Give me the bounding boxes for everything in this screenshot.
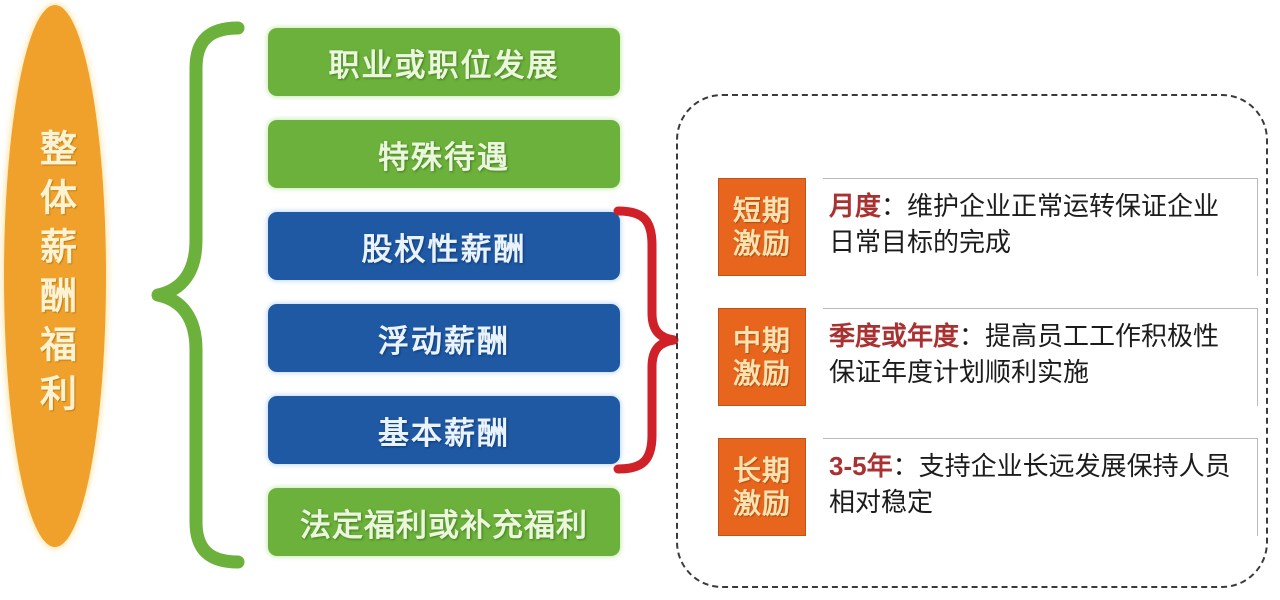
incentive-separator: ：: [881, 191, 907, 221]
diagram-canvas: 整体薪酬福利 职业或职位发展 特殊待遇 股权性薪酬 浮动薪酬 基本薪酬 法定福利…: [0, 0, 1280, 600]
incentive-period: 3-5年: [829, 451, 893, 481]
incentive-tag-line2: 激励: [733, 487, 791, 520]
incentive-period: 月度: [829, 191, 881, 221]
root-node-total-compensation: 整体薪酬福利: [4, 5, 106, 547]
root-node-label: 整体薪酬福利: [4, 5, 106, 547]
incentive-description-long-term: 3-5年：支持企业长远发展保持人员相对稳定: [823, 438, 1258, 536]
category-box-statutory-benefits[interactable]: 法定福利或补充福利: [268, 488, 620, 556]
incentive-row-mid-term: 中期 激励 季度或年度：提高员工工作积极性保证年度计划顺利实施: [718, 308, 1258, 408]
incentive-description-mid-term: 季度或年度：提高员工工作积极性保证年度计划顺利实施: [823, 308, 1258, 406]
category-box-variable-pay[interactable]: 浮动薪酬: [268, 304, 620, 372]
incentive-description-short-term: 月度：维护企业正常运转保证企业日常目标的完成: [823, 178, 1258, 276]
category-box-equity-pay[interactable]: 股权性薪酬: [268, 212, 620, 280]
incentive-separator: ：: [959, 321, 985, 351]
incentive-list: 短期 激励 月度：维护企业正常运转保证企业日常目标的完成 中期 激励 季度或年度…: [718, 178, 1258, 538]
category-box-label: 基本薪酬: [378, 408, 510, 453]
category-box-label: 浮动薪酬: [378, 316, 510, 361]
incentive-tag-line1: 短期: [733, 194, 791, 227]
incentive-tag-line1: 中期: [733, 324, 791, 357]
incentive-tag-mid-term[interactable]: 中期 激励: [718, 308, 806, 406]
incentive-period: 季度或年度: [829, 321, 959, 351]
category-box-career-development[interactable]: 职业或职位发展: [268, 28, 620, 96]
incentive-row-short-term: 短期 激励 月度：维护企业正常运转保证企业日常目标的完成: [718, 178, 1258, 278]
incentive-tag-line1: 长期: [733, 454, 791, 487]
category-box-label: 法定福利或补充福利: [300, 500, 588, 545]
green-brace-icon: [110, 10, 260, 590]
category-box-column: 职业或职位发展 特殊待遇 股权性薪酬 浮动薪酬 基本薪酬 法定福利或补充福利: [268, 28, 620, 556]
category-box-special-benefits[interactable]: 特殊待遇: [268, 120, 620, 188]
incentive-tag-line2: 激励: [733, 227, 791, 260]
incentive-tag-long-term[interactable]: 长期 激励: [718, 438, 806, 536]
category-box-label: 股权性薪酬: [362, 224, 527, 269]
incentive-separator: ：: [893, 451, 919, 481]
incentive-tag-line2: 激励: [733, 357, 791, 390]
category-box-base-pay[interactable]: 基本薪酬: [268, 396, 620, 464]
category-box-label: 职业或职位发展: [329, 40, 560, 85]
incentive-row-long-term: 长期 激励 3-5年：支持企业长远发展保持人员相对稳定: [718, 438, 1258, 538]
incentive-tag-short-term[interactable]: 短期 激励: [718, 178, 806, 276]
category-box-label: 特殊待遇: [378, 132, 510, 177]
